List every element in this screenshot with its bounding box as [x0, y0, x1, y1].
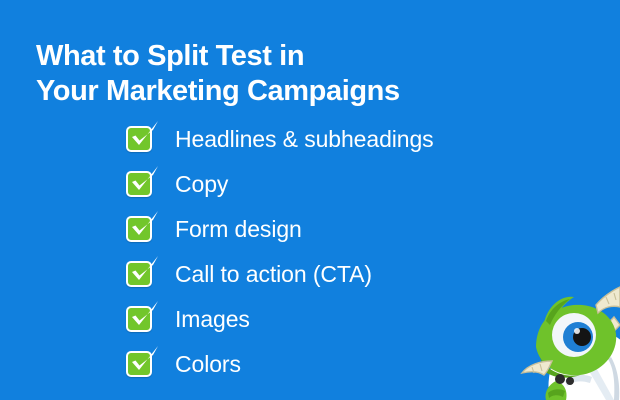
list-item-label: Images [175, 306, 250, 332]
list-item-label: Form design [175, 216, 302, 242]
slide-canvas: What to Split Test in Your Marketing Cam… [0, 0, 620, 400]
checkbox-checked-icon[interactable] [126, 261, 152, 287]
checkmark-icon [127, 165, 161, 199]
list-item[interactable]: Headlines & subheadings [126, 116, 434, 161]
list-item[interactable]: Call to action (CTA) [126, 251, 434, 296]
page-title-line-2: Your Marketing Campaigns [36, 74, 556, 109]
mascot-horn-right [596, 287, 620, 313]
list-item-label: Colors [175, 351, 241, 377]
page-title: What to Split Test in Your Marketing Cam… [36, 39, 556, 109]
list-item[interactable]: Copy [126, 161, 434, 206]
checkmark-icon [127, 345, 161, 379]
checkmark-icon [127, 300, 161, 334]
page-title-line-1: What to Split Test in [36, 39, 556, 74]
list-item[interactable]: Colors [126, 341, 434, 386]
mascot-illustration [510, 285, 620, 400]
list-item-label: Copy [175, 171, 228, 197]
checkbox-checked-icon[interactable] [126, 126, 152, 152]
checkbox-checked-icon[interactable] [126, 171, 152, 197]
checkbox-checked-icon[interactable] [126, 216, 152, 242]
checkmark-icon [127, 255, 161, 289]
green-monster-mascot [510, 285, 620, 400]
list-item[interactable]: Images [126, 296, 434, 341]
list-item-label: Headlines & subheadings [175, 126, 434, 152]
checkmark-icon [127, 210, 161, 244]
list-item[interactable]: Form design [126, 206, 434, 251]
checkbox-checked-icon[interactable] [126, 351, 152, 377]
checkmark-icon [127, 120, 161, 154]
checkbox-checked-icon[interactable] [126, 306, 152, 332]
split-test-checklist: Headlines & subheadings Copy Form design [126, 116, 434, 386]
list-item-label: Call to action (CTA) [175, 261, 372, 287]
mascot-eye [552, 313, 596, 357]
